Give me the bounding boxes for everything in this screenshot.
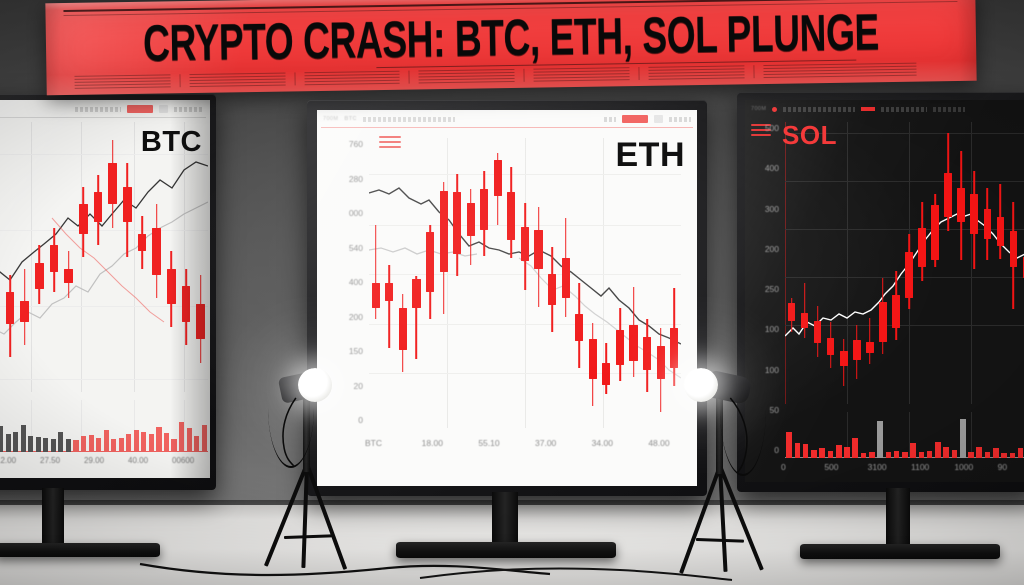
newspaper-column <box>189 73 285 88</box>
tripod-cross-brace <box>696 538 744 542</box>
tripod-leg <box>679 465 722 573</box>
newspaper-headline-banner: CRYPTO CRASH: BTC, ETH, SOL PLUNGE <box>45 0 976 95</box>
tripod-cross-brace <box>284 534 332 538</box>
studio-light-right <box>662 366 772 585</box>
newspaper-column <box>648 65 744 80</box>
watermark-sol: SOL <box>782 120 837 151</box>
tripod-leg <box>305 463 347 570</box>
watermark-eth: ETH <box>616 136 686 175</box>
newspaper-column <box>419 69 515 84</box>
newspaper-column <box>534 67 630 82</box>
newspaper-column <box>763 63 916 78</box>
studio-scene: BTC <box>0 0 1024 585</box>
lamp-face <box>684 368 718 402</box>
power-cable <box>720 396 766 476</box>
newspaper-column <box>74 74 170 89</box>
studio-light-left <box>262 368 372 585</box>
watermark-btc: BTC <box>141 126 202 159</box>
newspaper-column <box>304 71 400 86</box>
